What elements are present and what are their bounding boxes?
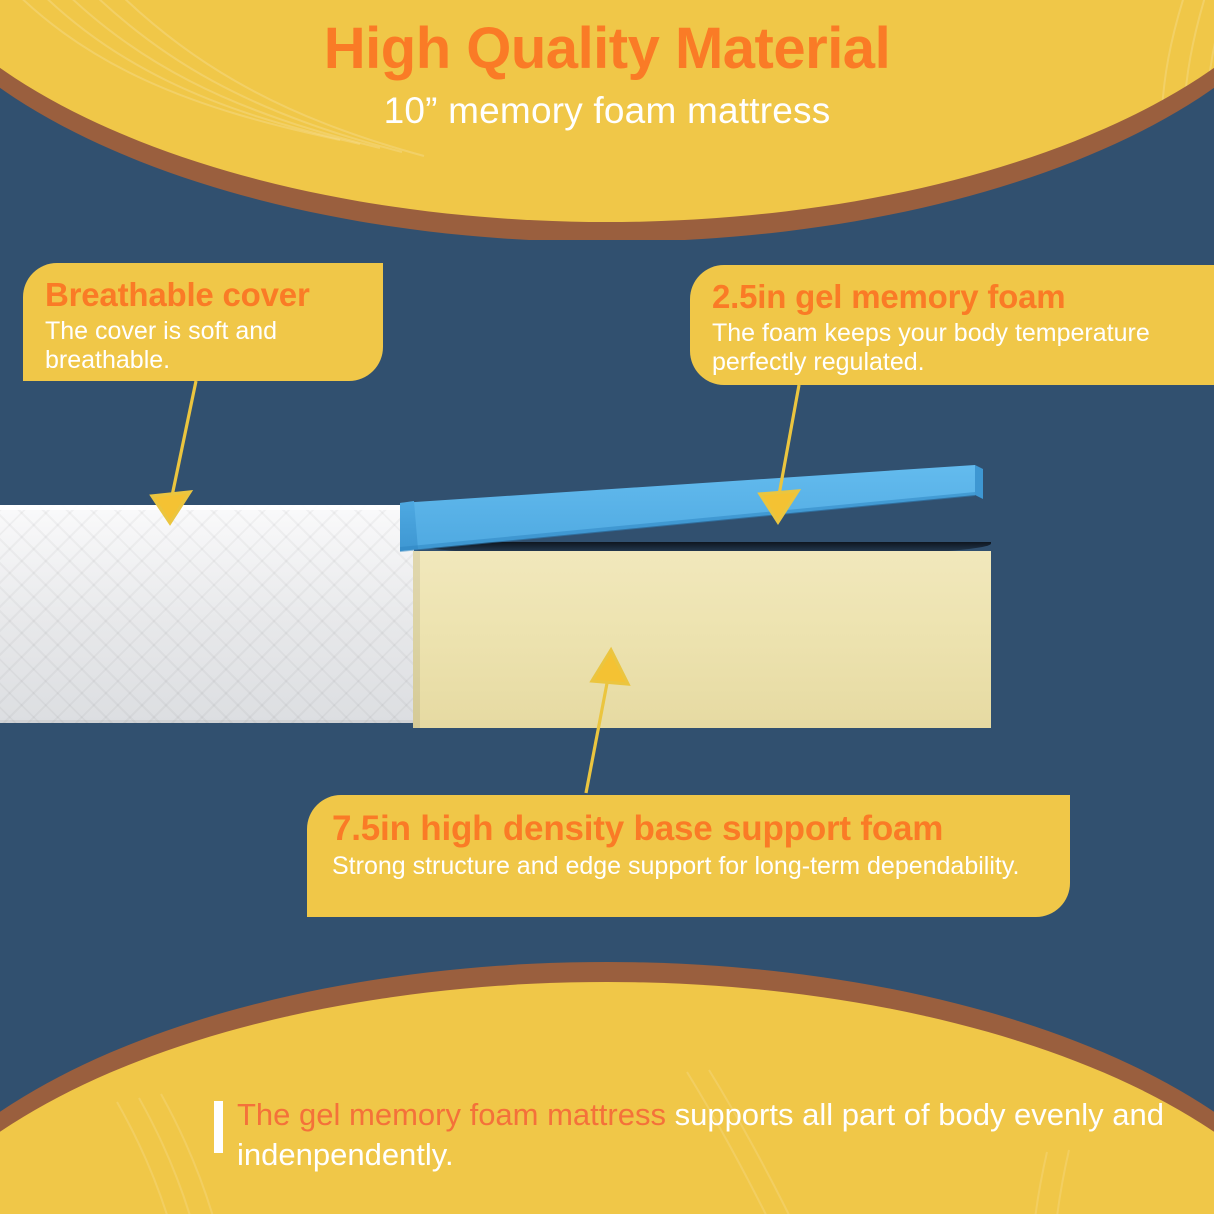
callout-base-support-foam[interactable]: 7.5in high density base support foam Str… xyxy=(307,795,1070,917)
cover-top-highlight xyxy=(0,505,414,510)
callout-gel-memory-foam[interactable]: 2.5in gel memory foam The foam keeps you… xyxy=(690,265,1214,385)
callout-body: The cover is soft and breathable. xyxy=(45,314,361,376)
cream-high-density-base-foam-slab xyxy=(413,551,991,728)
blue-gel-memory-foam-layer xyxy=(400,455,1000,565)
infographic-canvas: High Quality Material 10” memory foam ma… xyxy=(0,0,1214,1214)
footer-statement: The gel memory foam mattress supports al… xyxy=(214,1095,1174,1174)
page-subtitle: 10” memory foam mattress xyxy=(0,80,1214,132)
page-title: High Quality Material xyxy=(0,0,1214,80)
callout-title: 7.5in high density base support foam xyxy=(332,809,1048,848)
footer-accent-text: The gel memory foam mattress xyxy=(237,1097,666,1132)
callout-title: 2.5in gel memory foam xyxy=(712,279,1192,316)
white-quilted-cover-slab xyxy=(0,505,414,723)
footer-text-line: The gel memory foam mattress supports al… xyxy=(237,1095,1174,1174)
base-foam-left-edge-shade xyxy=(413,551,420,728)
footer-accent-bar xyxy=(214,1101,223,1153)
callout-breathable-cover[interactable]: Breathable cover The cover is soft and b… xyxy=(23,263,383,381)
footer-banner xyxy=(0,954,1214,1214)
callout-title: Breathable cover xyxy=(45,277,361,314)
callout-body: Strong structure and edge support for lo… xyxy=(332,848,1048,882)
callout-body: The foam keeps your body temperature per… xyxy=(712,316,1192,378)
header-text-block: High Quality Material 10” memory foam ma… xyxy=(0,0,1214,132)
